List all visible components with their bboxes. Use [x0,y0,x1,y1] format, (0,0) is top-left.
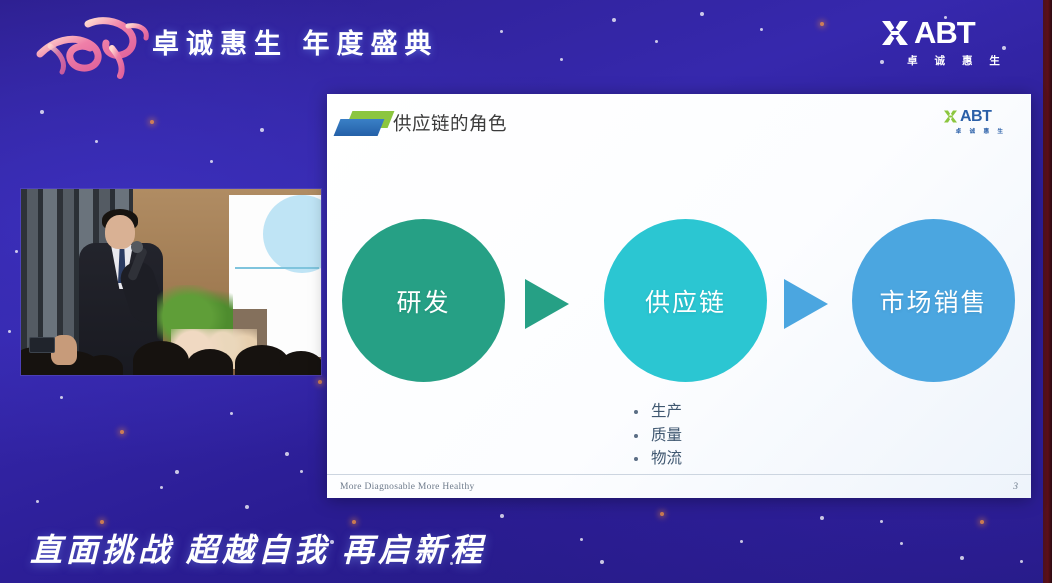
bullet-label: 质量 [651,426,682,447]
brand-logo: ABT 卓 诚 惠 生 [880,16,1030,72]
list-item: 物流 [634,449,682,470]
slide-brand-logo: ABT 卓 诚 惠 生 [943,108,1017,138]
presentation-slide[interactable]: 供应链的角色 ABT 卓 诚 惠 生 研发 供应链 市场销售 生产 [327,94,1031,498]
process-node-rd[interactable]: 研发 [342,219,505,382]
slide-title: 供应链的角色 [393,110,507,136]
video-microphone-head [131,241,143,253]
footer-tagline: More Diagnosable More Healthy [340,482,475,492]
process-node-supply-chain[interactable]: 供应链 [604,219,767,382]
list-item: 质量 [634,426,682,447]
event-title: 卓诚惠生 年度盛典 [152,22,439,61]
slide-page-number: 3 [1013,482,1018,492]
year-calligraphy-logo [28,10,156,80]
list-item: 生产 [634,402,682,423]
brand-x-icon [880,18,910,48]
bullet-dot-icon [634,410,638,414]
process-node-market-sales[interactable]: 市场销售 [852,219,1015,382]
parallelogram-icon [335,109,393,137]
slide-brand-subtitle: 卓 诚 惠 生 [943,127,1017,135]
bullet-list: 生产 质量 物流 [634,402,682,473]
brand-name: ABT [914,18,975,48]
video-audience-phone [29,337,55,353]
video-projection-line [235,267,319,269]
bullet-dot-icon [634,434,638,438]
stage-background: 卓诚惠生 年度盛典 ABT 卓 诚 惠 生 [0,0,1052,583]
live-speaker-video[interactable] [21,189,321,375]
process-arrow-2 [784,279,834,329]
slide-brand-name: ABT [960,109,991,125]
brand-subtitle: 卓 诚 惠 生 [880,53,1030,68]
process-arrow-1 [525,279,575,329]
parallelogram-blue [334,119,385,136]
bullet-label: 物流 [651,449,682,470]
header-bar: 卓诚惠生 年度盛典 ABT 卓 诚 惠 生 [0,0,1052,88]
bullet-label: 生产 [651,402,682,423]
bullet-dot-icon [634,457,638,461]
slide-brand-x-icon [943,109,958,124]
slide-footer: More Diagnosable More Healthy 3 [327,474,1031,498]
event-slogan: 直面挑战 超越自我 再启新程 [30,525,486,571]
